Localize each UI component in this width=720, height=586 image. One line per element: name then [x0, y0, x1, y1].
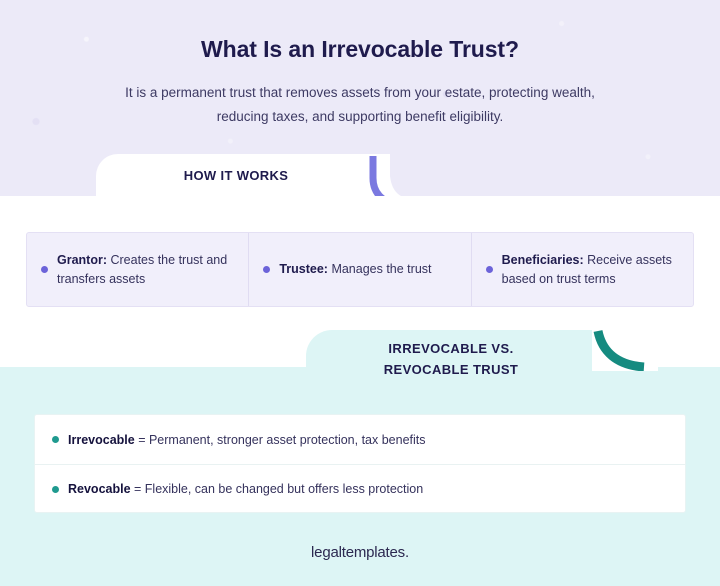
comparison-tab-label-line1: IRREVOCABLE VS. — [306, 338, 596, 359]
how-it-works-tab-label: HOW IT WORKS — [96, 168, 376, 183]
bullet-dot-icon — [486, 266, 493, 273]
bullet-dot-icon — [41, 266, 48, 273]
how-it-works-card-text: Trustee: Manages the trust — [279, 260, 431, 279]
how-it-works-card: Beneficiaries: Receive assets based on t… — [471, 233, 693, 306]
comparison-tab-label: IRREVOCABLE VS. REVOCABLE TRUST — [306, 338, 596, 381]
comparison-tab-label-line2: REVOCABLE TRUST — [306, 359, 596, 380]
bullet-dot-icon — [263, 266, 270, 273]
page-subtitle: It is a permanent trust that removes ass… — [110, 81, 610, 129]
hero-to-cards-spacer — [0, 196, 720, 210]
how-it-works-card-group: Grantor: Creates the trust and transfers… — [26, 232, 694, 307]
bullet-dot-icon — [52, 486, 59, 493]
comparison-row-description: = Flexible, can be changed but offers le… — [131, 482, 424, 496]
how-it-works-card: Trustee: Manages the trust — [248, 233, 470, 306]
how-it-works-card-text: Grantor: Creates the trust and transfers… — [57, 251, 234, 289]
comparison-row: Irrevocable = Permanent, stronger asset … — [35, 415, 685, 464]
how-it-works-card-term: Beneficiaries: — [502, 253, 584, 267]
comparison-row-term: Irrevocable — [68, 433, 135, 447]
infographic-canvas: What Is an Irrevocable Trust? It is a pe… — [0, 0, 720, 586]
comparison-row-text: Revocable = Flexible, can be changed but… — [68, 482, 423, 496]
comparison-row: Revocable = Flexible, can be changed but… — [35, 464, 685, 513]
how-it-works-card: Grantor: Creates the trust and transfers… — [27, 233, 248, 306]
bullet-dot-icon — [52, 436, 59, 443]
comparison-row-description: = Permanent, stronger asset protection, … — [135, 433, 426, 447]
comparison-row-text: Irrevocable = Permanent, stronger asset … — [68, 433, 426, 447]
comparison-panel: Irrevocable = Permanent, stronger asset … — [34, 414, 686, 513]
page-title: What Is an Irrevocable Trust? — [0, 36, 720, 63]
footer-brand-logo: legaltemplates. — [0, 544, 720, 561]
how-it-works-card-term: Trustee: — [279, 262, 328, 276]
how-it-works-card-term: Grantor: — [57, 253, 107, 267]
how-it-works-card-description: Manages the trust — [328, 262, 432, 276]
how-it-works-card-text: Beneficiaries: Receive assets based on t… — [502, 251, 679, 289]
comparison-row-term: Revocable — [68, 482, 131, 496]
comparison-tab-curve-accent — [592, 327, 658, 371]
